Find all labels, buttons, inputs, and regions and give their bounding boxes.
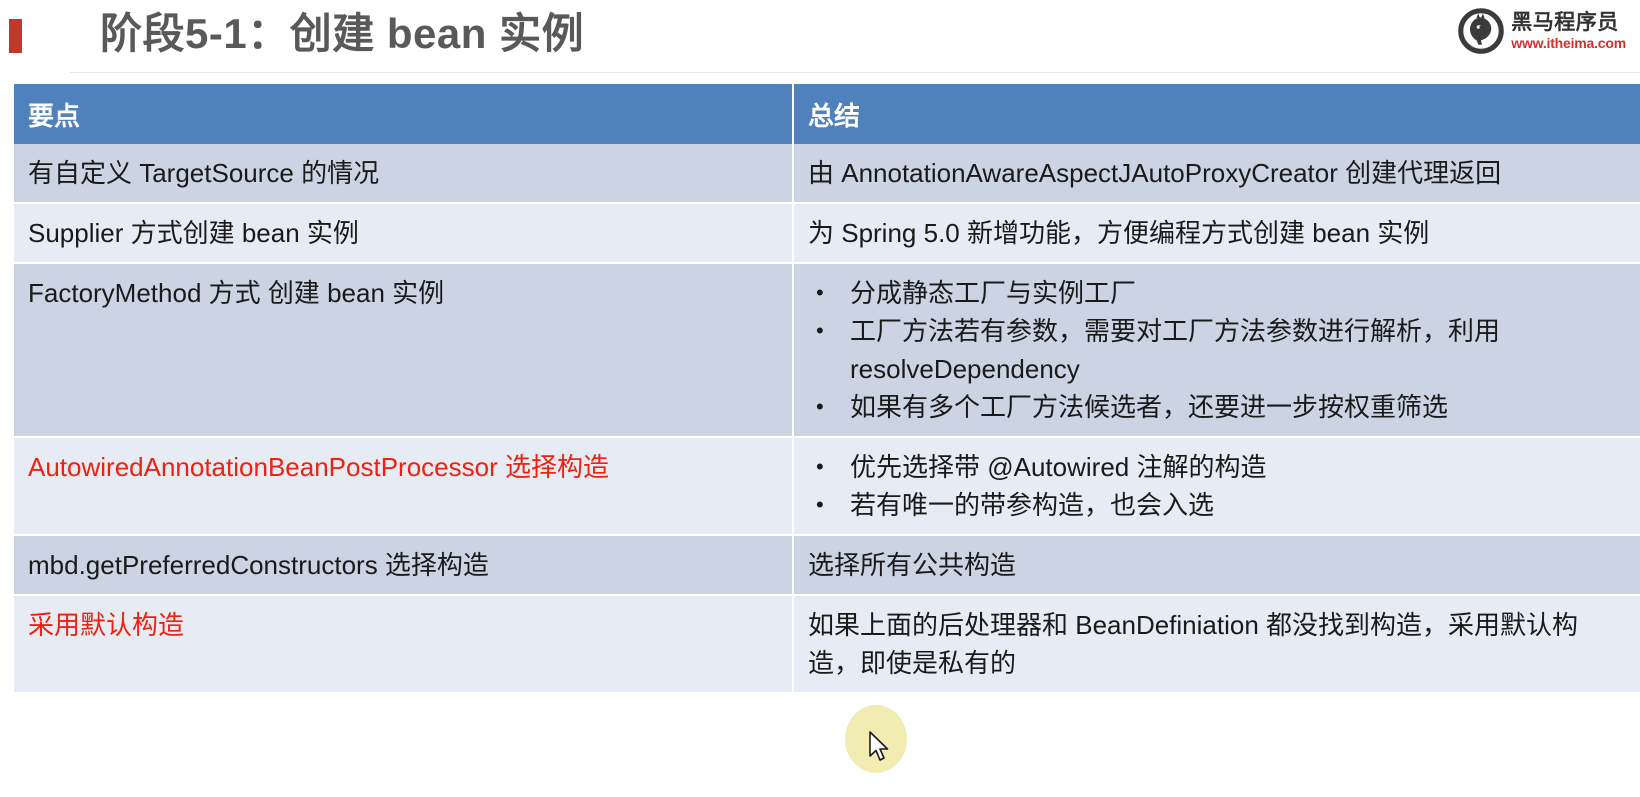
cell-summary: 优先选择带 @Autowired 注解的构造若有唯一的带参构造，也会入选 [793,437,1640,535]
cursor-spotlight [845,705,907,773]
cell-summary: 分成静态工厂与实例工厂工厂方法若有参数，需要对工厂方法参数进行解析，利用 res… [793,263,1640,437]
table-row: FactoryMethod 方式 创建 bean 实例分成静态工厂与实例工厂工厂… [14,263,1640,437]
cell-summary: 选择所有公共构造 [793,535,1640,595]
summary-bullet-list: 优先选择带 @Autowired 注解的构造若有唯一的带参构造，也会入选 [808,448,1626,524]
cell-point: Supplier 方式创建 bean 实例 [14,203,793,263]
page-title: 阶段5-1：创建 bean 实例 [100,6,584,62]
arrow-cursor-icon [868,731,890,763]
column-header-point: 要点 [14,84,793,144]
summary-bullet-item: 工厂方法若有参数，需要对工厂方法参数进行解析，利用 resolveDepende… [808,312,1626,388]
brand-logo: 黑马程序员 www.itheima.com [1458,8,1626,54]
table-body: 有自定义 TargetSource 的情况由 AnnotationAwareAs… [14,144,1640,693]
summary-bullet-item: 若有唯一的带参构造，也会入选 [808,486,1626,524]
summary-table: 要点 总结 有自定义 TargetSource 的情况由 AnnotationA… [14,84,1640,694]
cell-point: FactoryMethod 方式 创建 bean 实例 [14,263,793,437]
summary-bullet-item: 优先选择带 @Autowired 注解的构造 [808,448,1626,486]
title-bar: 阶段5-1：创建 bean 实例 黑马程序员 www.itheima.com [0,0,1640,73]
cell-point: AutowiredAnnotationBeanPostProcessor 选择构… [14,437,793,535]
table-header: 要点 总结 [14,84,1640,144]
table-row: Supplier 方式创建 bean 实例为 Spring 5.0 新增功能，方… [14,203,1640,263]
slide-canvas: 阶段5-1：创建 bean 实例 黑马程序员 www.itheima.com 要… [0,0,1640,797]
brand-url: www.itheima.com [1511,36,1626,50]
title-accent-bar [9,19,22,53]
summary-bullet-list: 分成静态工厂与实例工厂工厂方法若有参数，需要对工厂方法参数进行解析，利用 res… [808,274,1626,426]
cell-point: mbd.getPreferredConstructors 选择构造 [14,535,793,595]
table-row: AutowiredAnnotationBeanPostProcessor 选择构… [14,437,1640,535]
table-header-row: 要点 总结 [14,84,1640,144]
brand-logo-text: 黑马程序员 www.itheima.com [1511,12,1626,50]
summary-bullet-item: 分成静态工厂与实例工厂 [808,274,1626,312]
title-divider [70,72,1640,73]
table-row: 采用默认构造如果上面的后处理器和 BeanDefiniation 都没找到构造，… [14,595,1640,693]
horse-head-circle-logo-icon [1458,8,1504,54]
cell-summary: 由 AnnotationAwareAspectJAutoProxyCreator… [793,144,1640,203]
brand-name: 黑马程序员 [1511,12,1626,33]
cell-summary: 为 Spring 5.0 新增功能，方便编程方式创建 bean 实例 [793,203,1640,263]
cell-summary: 如果上面的后处理器和 BeanDefiniation 都没找到构造，采用默认构造… [793,595,1640,693]
column-header-summary: 总结 [793,84,1640,144]
summary-bullet-item: 如果有多个工厂方法候选者，还要进一步按权重筛选 [808,388,1626,426]
table-row: 有自定义 TargetSource 的情况由 AnnotationAwareAs… [14,144,1640,203]
table-row: mbd.getPreferredConstructors 选择构造选择所有公共构… [14,535,1640,595]
cell-point: 采用默认构造 [14,595,793,693]
cell-point: 有自定义 TargetSource 的情况 [14,144,793,203]
